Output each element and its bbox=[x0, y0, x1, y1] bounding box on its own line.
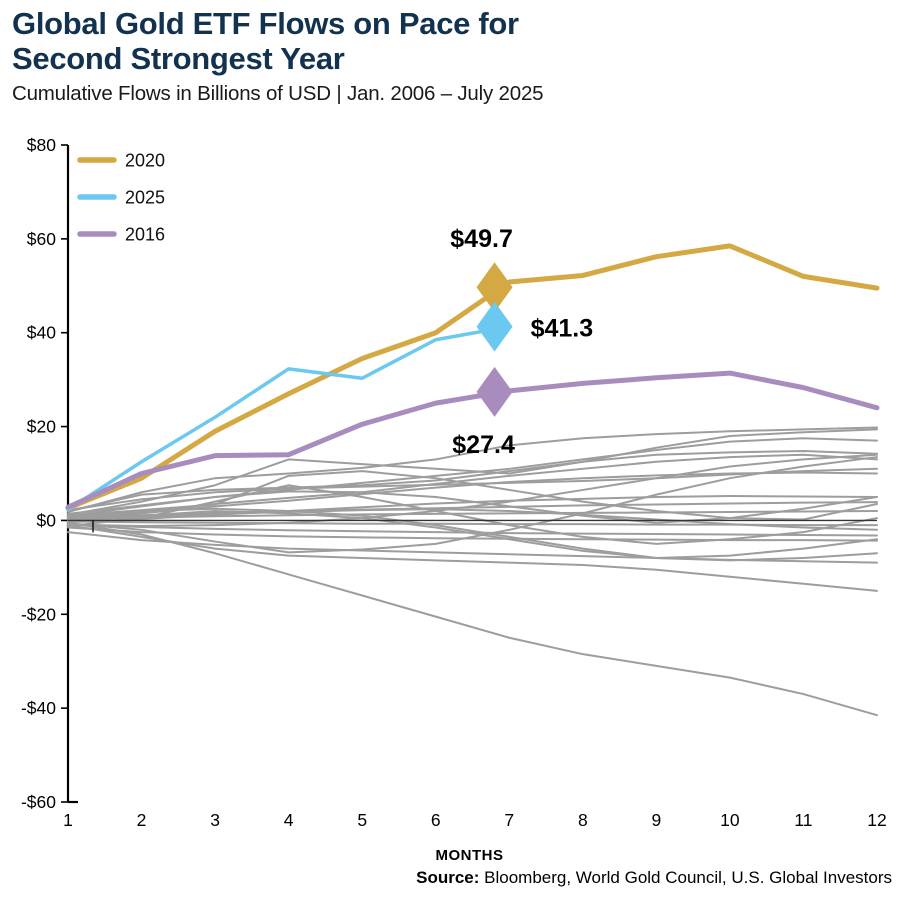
y-tick-label: $80 bbox=[27, 135, 56, 155]
chart-container: $80$60$40$20$0-$20-$40-$60 1234567891011… bbox=[0, 0, 900, 900]
data-labels-group: $49.7$41.3$27.4 bbox=[450, 225, 593, 459]
legend: 202020252016 bbox=[80, 151, 165, 245]
source-text: Bloomberg, World Gold Council, U.S. Glob… bbox=[479, 868, 892, 887]
legend-label-2020: 2020 bbox=[125, 151, 165, 171]
x-tick-label: 8 bbox=[578, 810, 588, 830]
data-label-2025: $41.3 bbox=[531, 315, 594, 343]
legend-label-2025: 2025 bbox=[125, 188, 165, 208]
x-tick-label: 12 bbox=[867, 810, 886, 830]
x-tick-label: 2 bbox=[137, 810, 147, 830]
x-tick-label: 5 bbox=[357, 810, 367, 830]
x-tick-label: 11 bbox=[794, 810, 812, 830]
y-tick-label: $40 bbox=[27, 323, 56, 343]
y-tick-label: -$20 bbox=[21, 604, 56, 624]
x-tick-label: 6 bbox=[431, 810, 441, 830]
x-axis-title: MONTHS bbox=[436, 847, 504, 864]
source-label: Source: bbox=[416, 868, 479, 887]
legend-label-2016: 2016 bbox=[125, 225, 165, 245]
data-label-2020: $49.7 bbox=[450, 225, 513, 253]
x-axis-ticks: 123456789101112 bbox=[63, 810, 887, 830]
x-tick-label: 1 bbox=[63, 810, 73, 830]
data-marker-diamond-2016 bbox=[477, 367, 513, 417]
y-tick-label: -$60 bbox=[21, 792, 56, 812]
x-tick-label: 7 bbox=[504, 810, 514, 830]
data-marker-diamond-2025 bbox=[477, 302, 513, 352]
data-markers-group bbox=[477, 262, 513, 417]
background-series-group bbox=[68, 428, 877, 716]
line-chart: $80$60$40$20$0-$20-$40-$60 1234567891011… bbox=[0, 0, 900, 900]
highlight-series-group bbox=[68, 246, 877, 510]
x-axis-title-text: MONTHS bbox=[436, 847, 504, 864]
x-tick-label: 10 bbox=[720, 810, 740, 830]
y-tick-label: $20 bbox=[27, 417, 56, 437]
x-tick-label: 9 bbox=[651, 810, 661, 830]
y-tick-label: -$40 bbox=[21, 698, 56, 718]
data-label-2016: $27.4 bbox=[452, 431, 515, 459]
y-tick-label: $0 bbox=[37, 510, 57, 530]
x-tick-label: 4 bbox=[284, 810, 294, 830]
axis-lines bbox=[68, 145, 78, 802]
source-note: Source: Bloomberg, World Gold Council, U… bbox=[416, 868, 892, 888]
background-series-line bbox=[68, 523, 877, 715]
y-tick-label: $60 bbox=[27, 229, 56, 249]
x-tick-label: 3 bbox=[210, 810, 220, 830]
y-axis-ticks: $80$60$40$20$0-$20-$40-$60 bbox=[21, 135, 68, 812]
